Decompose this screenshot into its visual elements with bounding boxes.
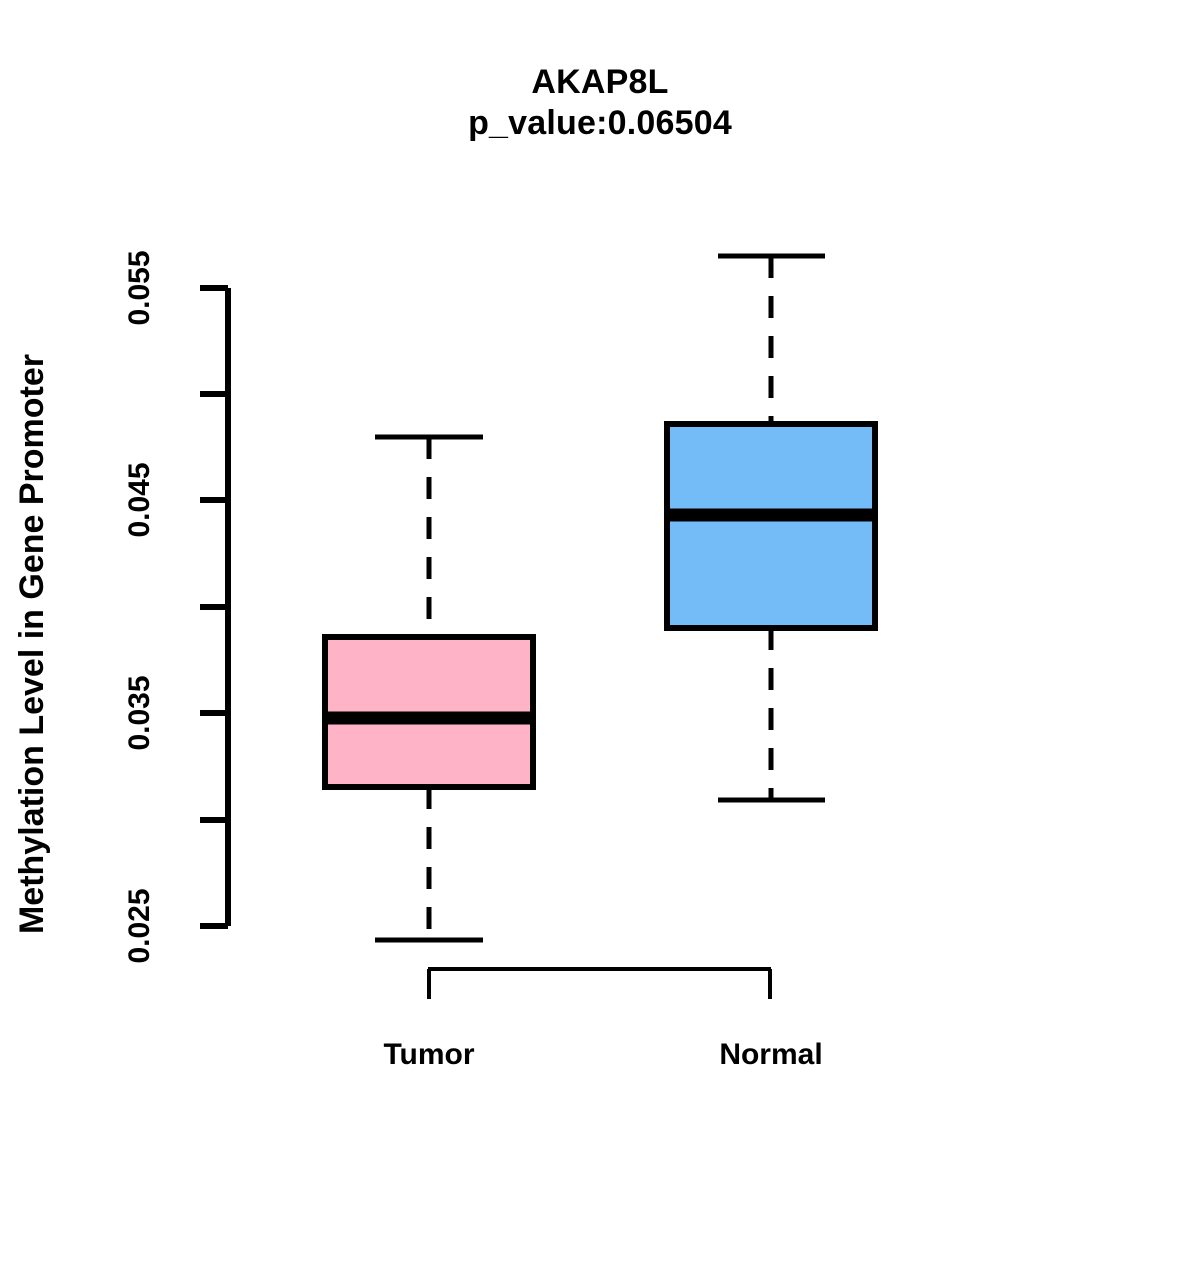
- plot-area: [0, 0, 1200, 1200]
- y-axis: [200, 288, 228, 926]
- box-normal[interactable]: [664, 256, 878, 800]
- box-tumor[interactable]: [322, 437, 536, 940]
- x-axis-bracket: [428, 969, 771, 999]
- boxplot-figure: AKAP8L p_value:0.06504 Methylation Level…: [0, 0, 1200, 1200]
- normal-box-rect[interactable]: [667, 424, 875, 628]
